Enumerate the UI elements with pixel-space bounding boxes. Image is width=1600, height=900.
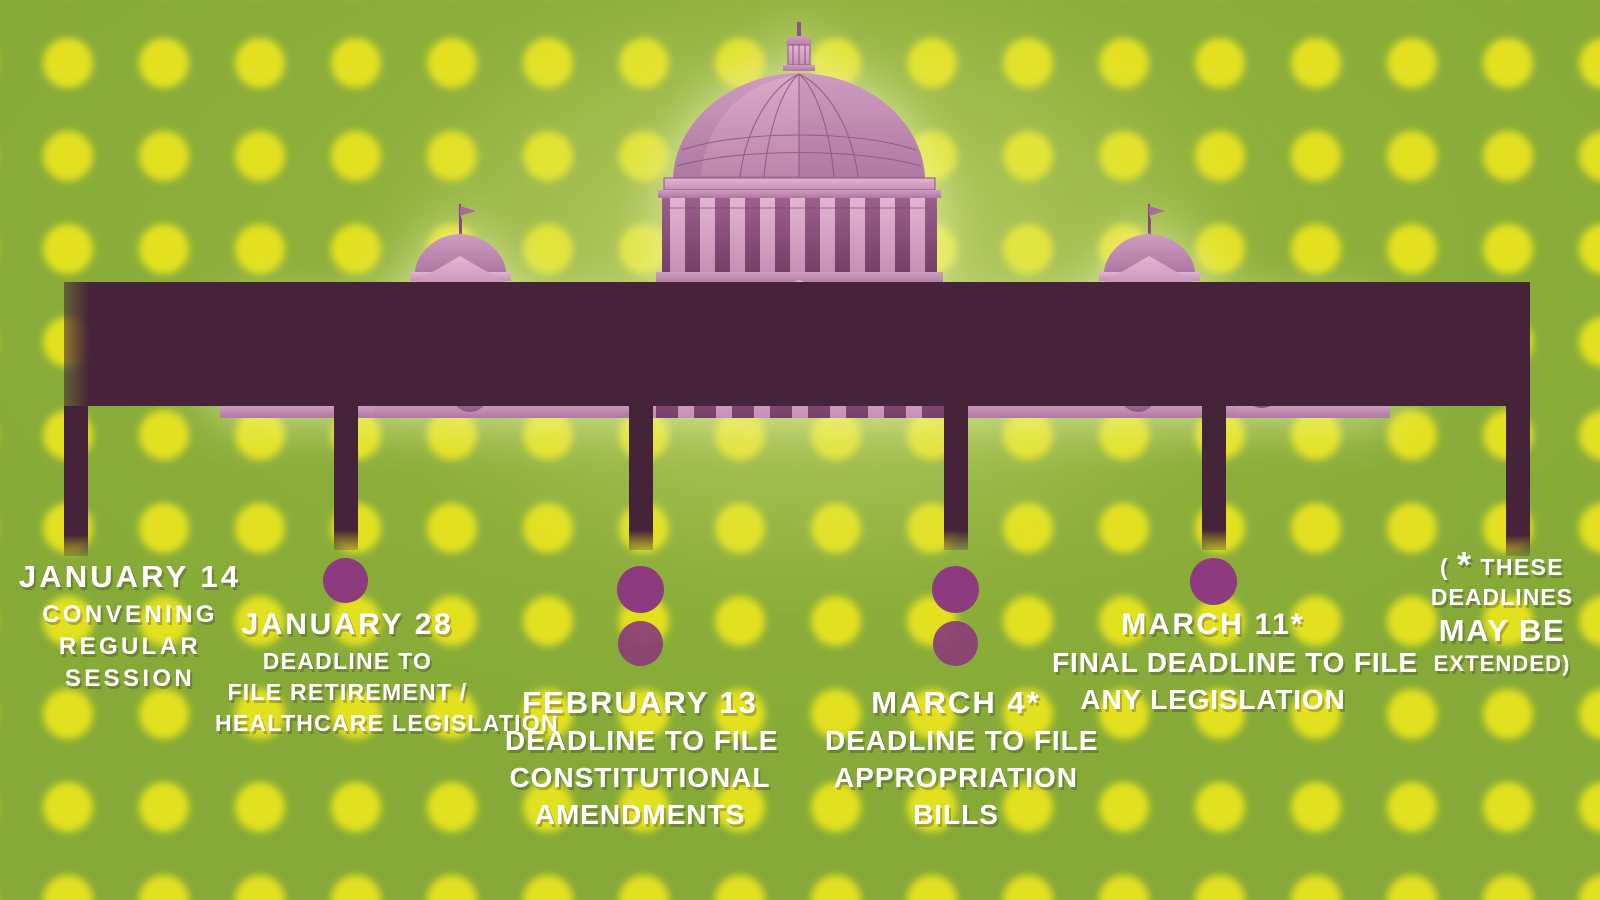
entry-desc-line: FILE RETIREMENT / [215, 677, 480, 708]
timeline-entry-final-filing: MARCH 11* FINAL DEADLINE TO FILE ANY LEG… [1052, 608, 1374, 718]
footnote-line-2: DEADLINES [1404, 582, 1600, 613]
footnote-line-1: (*THESE [1404, 552, 1600, 582]
timeline-stem-footnote [1506, 406, 1530, 556]
entry-description-constitutional-amendments: DEADLINE TO FILE CONSTITUTIONAL AMENDMEN… [505, 722, 775, 833]
entry-date-appropriation-bills: MARCH 4* [825, 686, 1087, 720]
entry-desc-line: DEADLINE TO FILE [825, 722, 1087, 759]
timeline-entry-constitutional-amendments: FEBRUARY 13 DEADLINE TO FILE CONSTITUTIO… [505, 686, 775, 833]
marker-dot-retirement-healthcare [323, 558, 368, 603]
asterisk-icon: * [1449, 544, 1480, 585]
entry-description-retirement-healthcare: DEADLINE TO FILE RETIREMENT / HEALTHCARE… [215, 646, 480, 739]
timeline-entry-appropriation-bills: MARCH 4* DEADLINE TO FILE APPROPRIATION … [825, 686, 1087, 833]
flag-left [460, 206, 476, 216]
timeline-bar [64, 282, 1530, 406]
entry-date-constitutional-amendments: FEBRUARY 13 [505, 686, 775, 720]
timeline-entry-retirement-healthcare: JANUARY 28 DEADLINE TO FILE RETIREMENT /… [215, 608, 480, 739]
entry-desc-line: AMENDMENTS [505, 796, 775, 833]
footnote-line-1-tail: THESE [1480, 554, 1564, 580]
marker-dot-appropriation-bills-2 [933, 621, 978, 666]
footnote-open-paren: ( [1440, 554, 1449, 580]
entry-desc-line: CONSTITUTIONAL [505, 759, 775, 796]
timeline-stem-retirement-healthcare [334, 406, 358, 550]
entry-date-retirement-healthcare: JANUARY 28 [215, 608, 480, 641]
timeline-stem-final-filing [1202, 406, 1226, 550]
timeline-stem-convening [64, 406, 88, 556]
entry-desc-line: FINAL DEADLINE TO FILE [1052, 644, 1374, 681]
marker-dot-appropriation-bills-1 [932, 566, 979, 613]
footnote-line-4: EXTENDED) [1404, 649, 1600, 679]
footnote-line-3: MAY BE [1404, 613, 1600, 649]
marker-dot-constitutional-amendments-1 [617, 566, 664, 613]
entry-description-appropriation-bills: DEADLINE TO FILE APPROPRIATION BILLS [825, 722, 1087, 833]
entry-desc-line: DEADLINE TO FILE [505, 722, 775, 759]
asterisk-footnote: (*THESE DEADLINES MAY BE EXTENDED) [1404, 552, 1600, 679]
timeline-stem-constitutional-amendments [629, 406, 653, 550]
marker-dot-constitutional-amendments-2 [618, 621, 663, 666]
flag-right [1149, 206, 1165, 216]
entry-desc-line: DEADLINE TO [215, 646, 480, 677]
entry-description-final-filing: FINAL DEADLINE TO FILE ANY LEGISLATION [1052, 644, 1374, 718]
entry-desc-line: BILLS [825, 796, 1087, 833]
marker-dot-final-filing [1190, 558, 1237, 605]
entry-desc-line: ANY LEGISLATION [1052, 681, 1374, 718]
entry-desc-line: HEALTHCARE LEGISLATION [215, 708, 480, 739]
infographic-canvas: JANUARY 14 CONVENING REGULAR SESSION JAN… [0, 0, 1600, 900]
timeline-stem-appropriation-bills [944, 406, 968, 550]
capitol-dome [650, 22, 949, 293]
entry-date-convening: JANUARY 14 [0, 560, 260, 594]
entry-date-final-filing: MARCH 11* [1052, 608, 1374, 642]
entry-desc-line: APPROPRIATION [825, 759, 1087, 796]
